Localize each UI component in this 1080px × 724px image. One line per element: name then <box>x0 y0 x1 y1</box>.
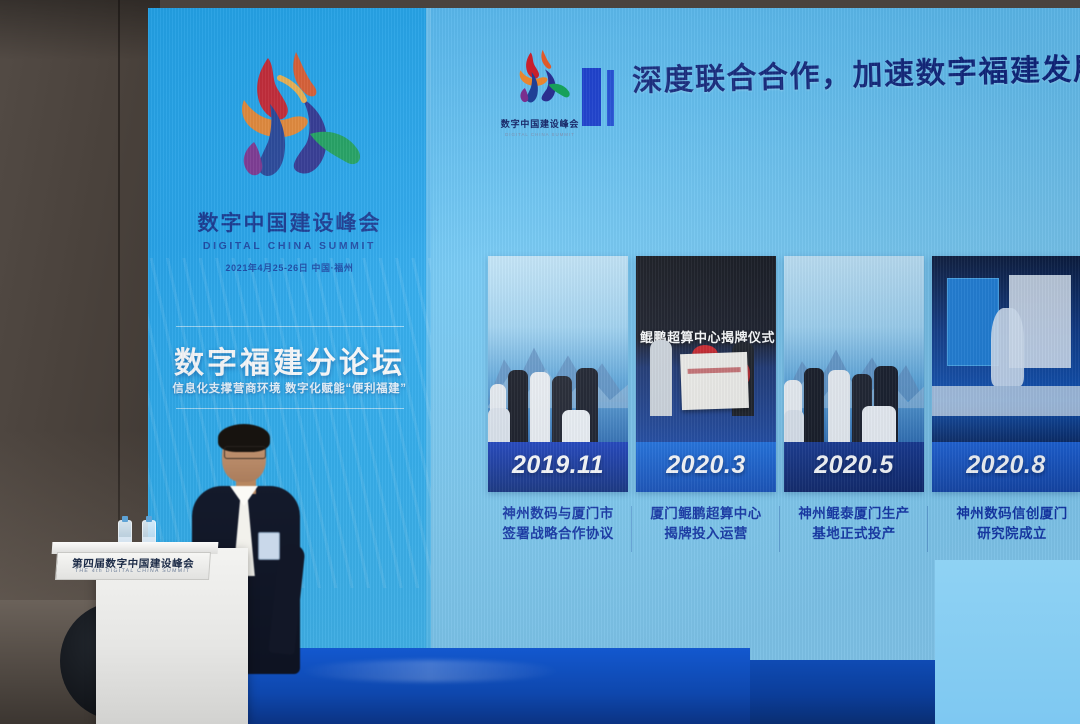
summit-date-line: 2021年4月25-26日 中国·福州 <box>148 261 431 274</box>
summit-logo-en: DIGITAL CHINA SUMMIT <box>148 240 431 252</box>
forum-title: 数字福建分论坛 <box>148 338 431 382</box>
timeline-date: 2020.3 <box>636 451 776 480</box>
timeline-caption: 厦门鲲鹏超算中心 揭牌投入运营 <box>636 504 776 543</box>
timeline-date-bar: 2020.5 <box>784 442 924 492</box>
photo-people-group <box>784 334 924 442</box>
caption-divider <box>779 506 780 552</box>
timeline-photo: 鲲鹏超算中心揭牌仪式 <box>636 256 776 442</box>
timeline-caption: 神州数码与厦门市 签署战略合作协议 <box>488 504 628 543</box>
timeline-photo <box>784 256 924 442</box>
timeline-photo <box>932 256 1080 442</box>
podium-logo-en: DIGITAL CHINA SUMMIT <box>0 132 1080 137</box>
timeline-photo <box>488 256 628 442</box>
timeline-date-bar: 2020.8 <box>932 442 1080 492</box>
caption-line-1: 神州数码与厦门市 <box>488 504 628 524</box>
presenter-glasses-icon <box>224 446 266 459</box>
caption-line-1: 厦门鲲鹏超算中心 <box>636 504 776 524</box>
summit-logo-icon <box>504 44 576 116</box>
timeline-caption: 神州数码信创厦门 研究院成立 <box>932 504 1080 543</box>
timeline-date-bar: 2019.11 <box>488 442 628 492</box>
exhibition-counter <box>932 386 1080 416</box>
stage-light-sheen <box>300 660 560 682</box>
timeline-caption: 神州鲲泰厦门生产 基地正式投产 <box>784 504 924 543</box>
panel-divider-top <box>176 326 404 327</box>
timeline-date-bar: 2020.3 <box>636 442 776 492</box>
summit-logo-cn: 数字中国建设峰会 <box>148 207 431 237</box>
timeline-card: 2019.11 <box>488 256 628 492</box>
timeline-card: 2020.8 <box>932 256 1080 492</box>
timeline-date: 2019.11 <box>488 451 628 480</box>
exhibition-person <box>991 308 1024 386</box>
timeline-photo-strip: 2019.11 鲲鹏超算中心揭牌仪式 2020.3 <box>488 256 1080 492</box>
photo-people-group <box>488 334 628 442</box>
timeline-card: 2020.5 <box>784 256 924 492</box>
timeline-captions: 神州数码与厦门市 签署战略合作协议 厦门鲲鹏超算中心 揭牌投入运营 神州鲲泰厦门… <box>488 504 1080 560</box>
caption-line-2: 基地正式投产 <box>784 524 924 544</box>
panel-divider-bottom <box>176 408 404 409</box>
podium-logo-cn: 数字中国建设峰会 <box>0 117 1080 130</box>
caption-divider <box>927 506 928 552</box>
caption-divider <box>631 506 632 552</box>
caption-line-1: 神州数码信创厦门 <box>932 504 1080 524</box>
conference-stage-photo: 数字中国建设峰会 DIGITAL CHINA SUMMIT 2021年4月25-… <box>0 0 1080 724</box>
timeline-date: 2020.5 <box>784 451 924 480</box>
forum-subtitle: 信息化支撑营商环境 数字化赋能“便利福建” <box>148 380 431 396</box>
caption-line-2: 研究院成立 <box>932 524 1080 544</box>
caption-line-1: 神州鲲泰厦门生产 <box>784 504 924 524</box>
podium-nameplate: 第四届数字中国建设峰会 THE 4th DIGITAL CHINA SUMMIT <box>55 552 211 580</box>
unveiled-plaque <box>680 352 749 410</box>
podium-logo-block: 数字中国建设峰会 DIGITAL CHINA SUMMIT <box>0 44 1080 137</box>
timeline-card: 鲲鹏超算中心揭牌仪式 2020.3 <box>636 256 776 492</box>
timeline-date: 2020.8 <box>932 451 1080 480</box>
podium-nameplate-en: THE 4th DIGITAL CHINA SUMMIT <box>56 568 208 574</box>
presenter-badge <box>258 532 280 560</box>
caption-line-2: 签署战略合作协议 <box>488 524 628 544</box>
stage-right-edge <box>935 560 1080 724</box>
caption-line-2: 揭牌投入运营 <box>636 524 776 544</box>
